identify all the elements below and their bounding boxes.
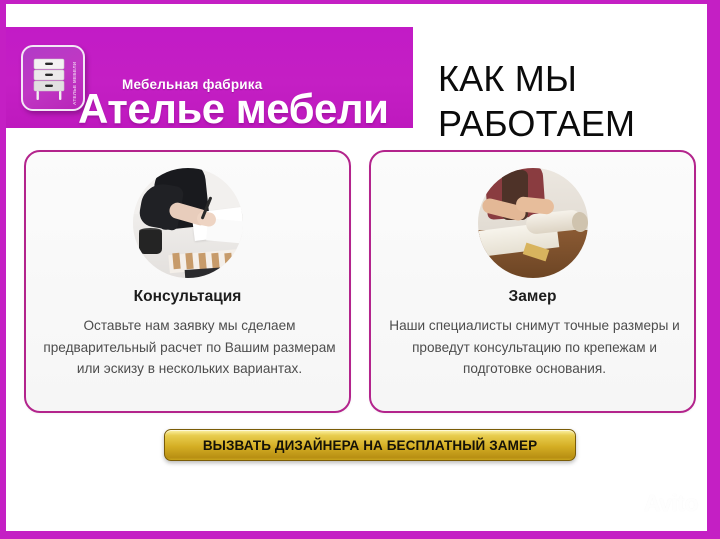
card-title: Консультация xyxy=(26,288,349,306)
step-card-measurement: Замер Наши специалисты снимут точные раз… xyxy=(369,150,696,413)
page-title: КАК МЫ РАБОТАЕМ xyxy=(438,56,700,146)
poster-canvas: АТЕЛЬЕ МЕБЕЛИ Мебельная фабрика Ателье м… xyxy=(0,0,720,539)
frame-border-top xyxy=(0,0,720,4)
avito-logo-icon xyxy=(618,493,640,515)
avito-watermark-label: Avito xyxy=(644,490,698,517)
call-designer-button[interactable]: ВЫЗВАТЬ ДИЗАЙНЕРА НА БЕСПЛАТНЫЙ ЗАМЕР xyxy=(164,429,576,461)
card-title: Замер xyxy=(371,288,694,306)
cta-label: ВЫЗВАТЬ ДИЗАЙНЕРА НА БЕСПЛАТНЫЙ ЗАМЕР xyxy=(203,438,537,453)
step-card-consultation: Консультация Оставьте нам заявку мы сдел… xyxy=(24,150,351,413)
card-text: Оставьте нам заявку мы сделаем предварит… xyxy=(42,315,337,380)
brand-title: Ателье мебели xyxy=(78,87,388,131)
consultation-photo xyxy=(133,168,243,278)
frame-border-bottom xyxy=(0,531,720,539)
steps-section: Консультация Оставьте нам заявку мы сдел… xyxy=(0,150,720,415)
measurement-photo xyxy=(478,168,588,278)
frame-border-right xyxy=(707,0,720,539)
company-logo-badge: АТЕЛЬЕ МЕБЕЛИ xyxy=(21,45,85,111)
brand-banner: АТЕЛЬЕ МЕБЕЛИ Мебельная фабрика Ателье м… xyxy=(0,27,413,128)
card-text: Наши специалисты снимут точные размеры и… xyxy=(387,315,682,380)
dresser-icon xyxy=(32,58,66,102)
frame-border-left xyxy=(0,0,6,539)
header: АТЕЛЬЕ МЕБЕЛИ Мебельная фабрика Ателье м… xyxy=(0,27,720,128)
cta-section: ВЫЗВАТЬ ДИЗАЙНЕРА НА БЕСПЛАТНЫЙ ЗАМЕР xyxy=(164,429,576,461)
avito-watermark: Avito xyxy=(618,490,698,517)
